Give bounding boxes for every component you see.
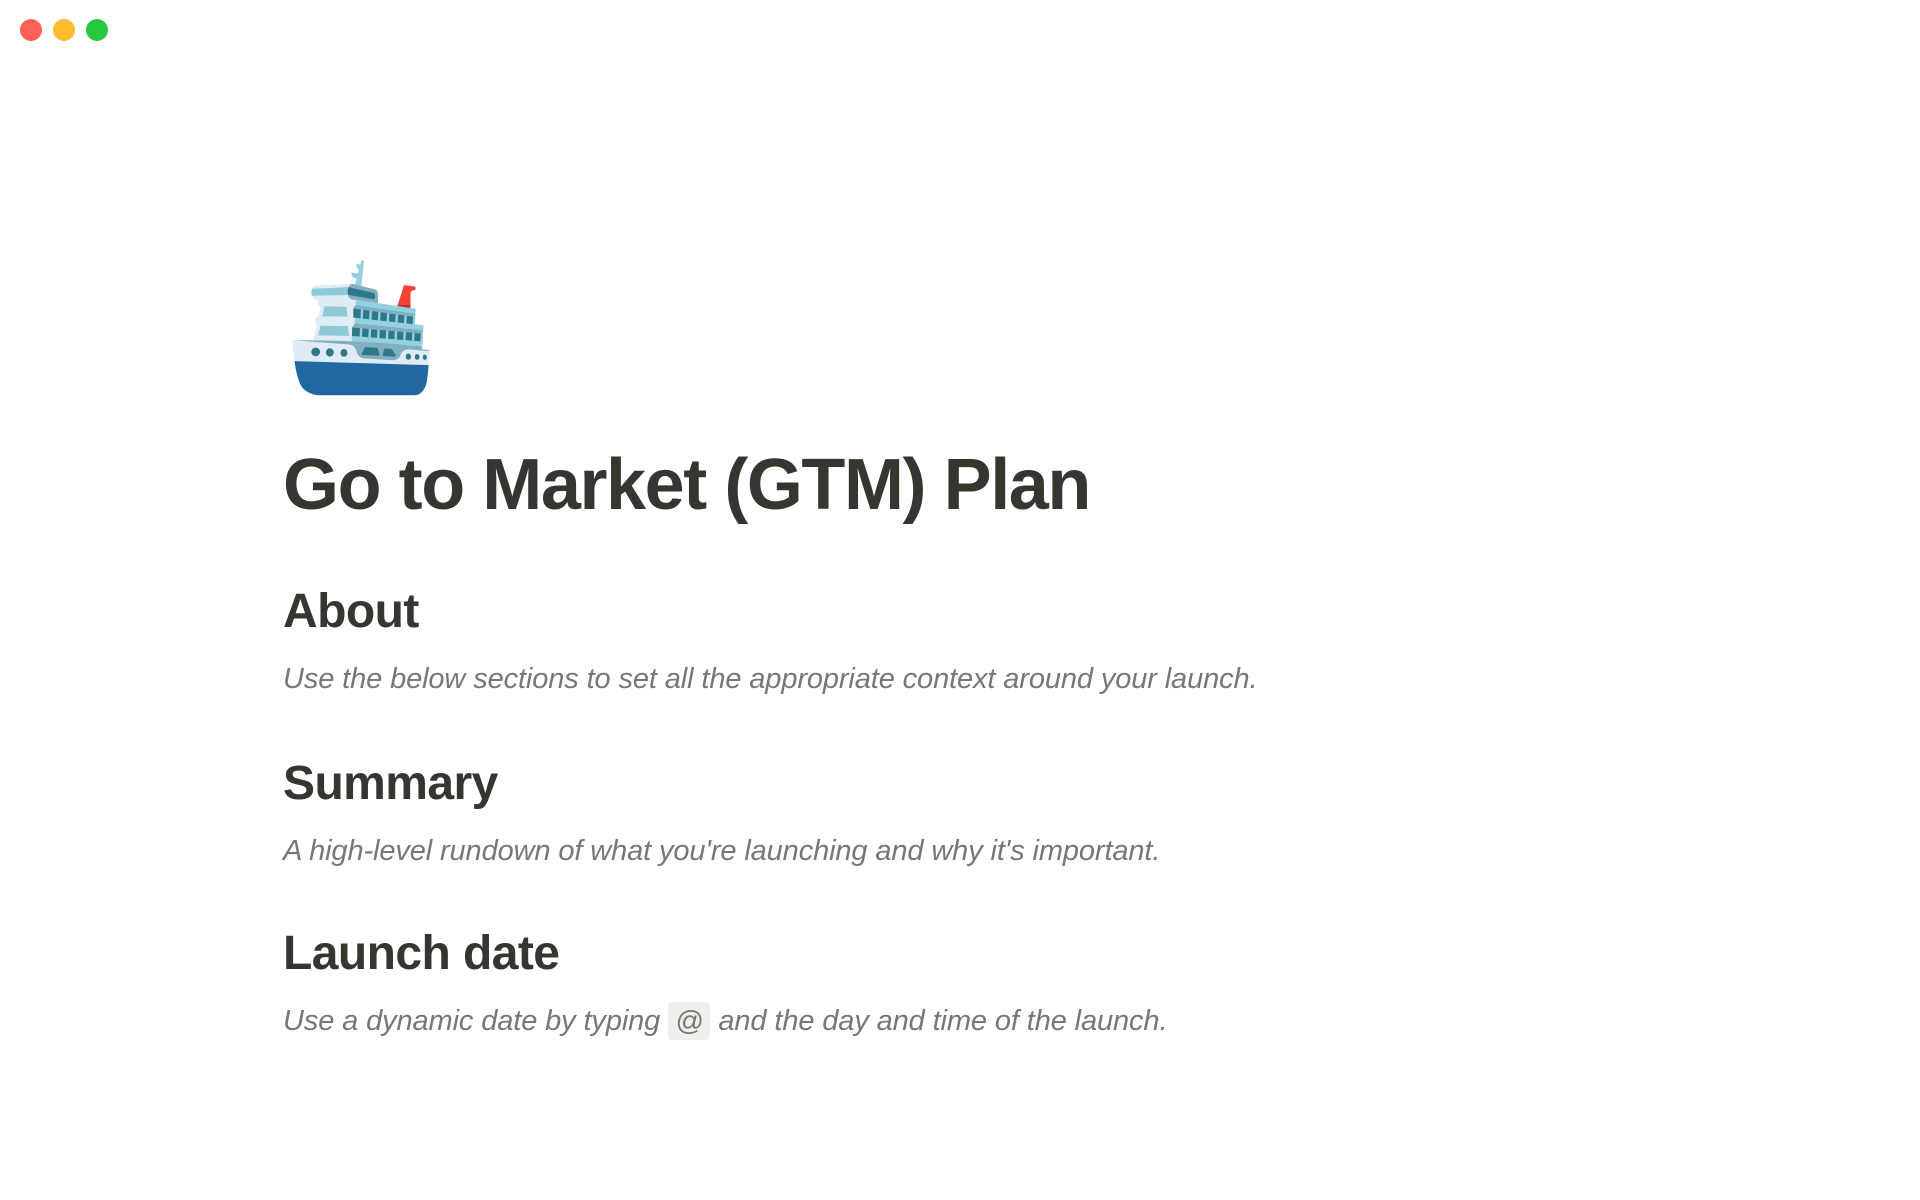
section-launch-date: Launch date Use a dynamic date by typing… (283, 925, 1920, 1043)
about-body-text[interactable]: Use the below sections to set all the ap… (283, 657, 1463, 701)
launch-date-text-after: and the day and time of the launch. (718, 1005, 1167, 1037)
window-titlebar (0, 0, 1920, 62)
minimize-button[interactable] (53, 19, 75, 41)
section-summary: Summary A high-level rundown of what you… (283, 755, 1920, 873)
document-page: 🛳️ Go to Market (GTM) Plan About Use the… (0, 257, 1920, 1043)
maximize-button[interactable] (86, 19, 108, 41)
heading-launch-date[interactable]: Launch date (283, 925, 1920, 983)
section-about: About Use the below sections to set all … (283, 583, 1920, 701)
at-mention-code-chip[interactable]: @ (668, 1002, 710, 1040)
app-window: 🛳️ Go to Market (GTM) Plan About Use the… (0, 0, 1920, 1200)
traffic-lights (20, 19, 108, 41)
document-scroll-area[interactable]: 🛳️ Go to Market (GTM) Plan About Use the… (0, 62, 1920, 1200)
heading-about[interactable]: About (283, 583, 1920, 641)
launch-date-text-before: Use a dynamic date by typing (283, 1005, 660, 1037)
passenger-ship-emoji-icon[interactable]: 🛳️ (283, 257, 1920, 399)
close-button[interactable] (20, 19, 42, 41)
launch-date-body-text[interactable]: Use a dynamic date by typing @ and the d… (283, 999, 1463, 1043)
summary-body-text[interactable]: A high-level rundown of what you're laun… (283, 829, 1463, 873)
heading-summary[interactable]: Summary (283, 755, 1920, 813)
page-title[interactable]: Go to Market (GTM) Plan (283, 443, 1920, 527)
